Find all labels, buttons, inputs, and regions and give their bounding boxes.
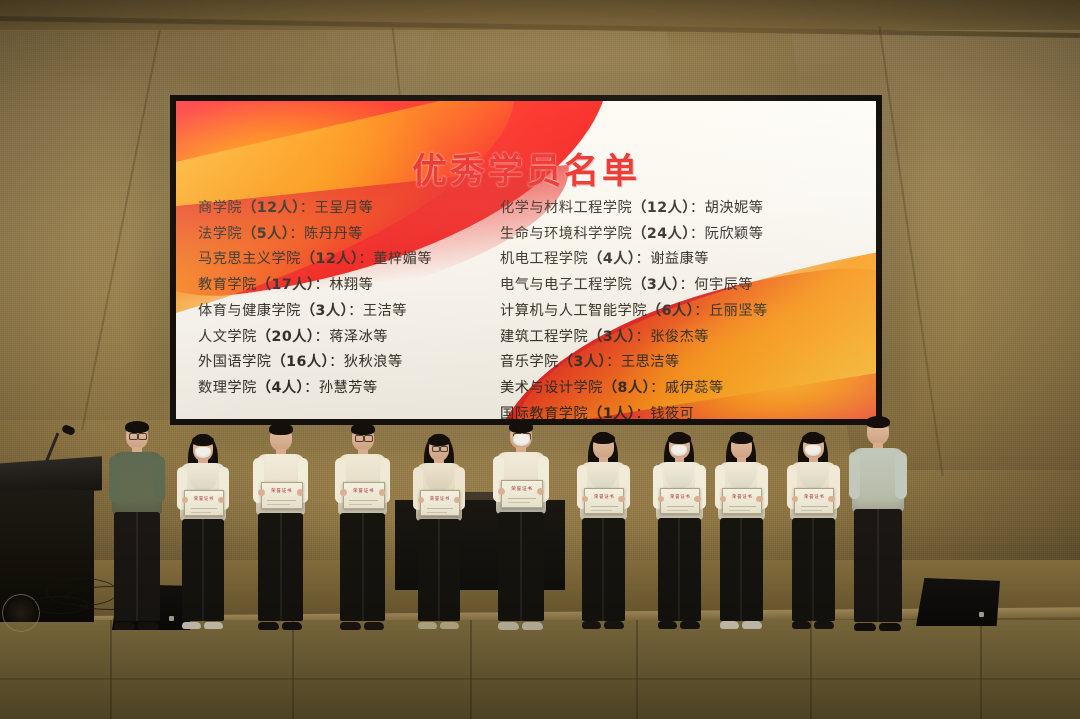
- hand: [537, 488, 544, 495]
- certificate-title: 荣誉证书: [421, 496, 458, 502]
- stage-panel-seam: [636, 620, 638, 719]
- stage-panel-seam-horizontal: [0, 678, 1080, 680]
- shoe-left: [258, 622, 279, 630]
- certificate-line: [729, 510, 750, 511]
- leg-separation: [362, 513, 364, 621]
- entry-separator: ：: [635, 251, 650, 267]
- shoe-right: [204, 622, 224, 629]
- legs-pants: [182, 519, 225, 620]
- hair: [668, 433, 691, 444]
- person-p2: 荣誉证书: [176, 434, 230, 629]
- entry-college: 体育与健康学院: [198, 303, 301, 319]
- certificate-line: [267, 500, 296, 501]
- leg-separation: [812, 518, 814, 620]
- certificate: 荣誉证书: [261, 482, 303, 510]
- projection-screen: 优秀学员名单 商学院（12人）：王呈月等法学院（5人）：陈丹丹等马克思主义学院（…: [176, 101, 876, 419]
- slide-entry: 美术与设计学院（8人）：戚伊蕊等: [500, 381, 854, 395]
- stage-monitor-speaker-right: [916, 578, 1000, 626]
- certificate-line: [591, 506, 618, 507]
- slide-entry: 法学院（5人）：陈丹丹等: [198, 227, 494, 241]
- entry-college: 教育学院: [198, 277, 257, 293]
- glasses-icon: [432, 446, 441, 453]
- shoe-left: [720, 621, 740, 629]
- shoe-left: [498, 622, 519, 630]
- shoe-right: [440, 622, 460, 629]
- certificate-line: [349, 504, 371, 505]
- certificate: 荣誉证书: [343, 482, 385, 510]
- legs-pants: [720, 518, 763, 620]
- entry-college: 电气与电子工程学院: [500, 277, 632, 293]
- entry-separator: ：: [329, 354, 344, 370]
- slide-entry: 化学与材料工程学院（12人）：胡泱妮等: [500, 201, 854, 215]
- slide-entry: 商学院（12人）：王呈月等: [198, 201, 494, 215]
- entry-separator: ：: [606, 354, 621, 370]
- speaker-led-icon: [169, 616, 174, 621]
- stage-panel-seam: [980, 620, 982, 719]
- stage-panel-seam: [810, 620, 812, 719]
- leg-separation: [136, 512, 138, 621]
- slide-entry: 音乐学院（3人）：王思洁等: [500, 355, 854, 369]
- stage-front-panel: [0, 620, 1080, 719]
- leg-separation: [740, 518, 742, 620]
- certificate-title: 荣誉证书: [502, 486, 542, 492]
- hair: [866, 416, 891, 428]
- entry-name: 王思洁等: [621, 354, 680, 370]
- slide-column-right: 化学与材料工程学院（12人）：胡泱妮等生命与环境科学学院（24人）：阮欣颖等机电…: [500, 201, 854, 419]
- stage-panel-seam: [292, 620, 294, 719]
- slide-entry: 计算机与人工智能学院（6人）：丘丽坚等: [500, 304, 854, 318]
- shoe-left: [582, 621, 602, 629]
- entry-name: 董梓媚等: [373, 251, 432, 267]
- person-p1: [108, 420, 166, 630]
- podium-logo-subtext: UNIVERSITY: [0, 542, 68, 547]
- hand: [694, 496, 701, 503]
- entry-separator: ：: [680, 277, 695, 293]
- entry-college: 生命与环境科学学院: [500, 226, 632, 242]
- entry-name: 狄秋浪等: [344, 354, 403, 370]
- hand: [498, 488, 505, 495]
- person-p3: 荣誉证书: [252, 422, 309, 630]
- entry-count: （16人）: [271, 354, 329, 370]
- hair: [428, 435, 450, 446]
- photo-scene: 优秀学员名单 商学院（12人）：王呈月等法学院（5人）：陈丹丹等马克思主义学院（…: [0, 0, 1080, 719]
- entry-college: 化学与材料工程学院: [500, 200, 632, 216]
- entry-count: （3人）: [588, 329, 635, 345]
- entry-name: 阮欣颖等: [705, 226, 764, 242]
- glasses-icon: [129, 433, 138, 440]
- hand: [618, 496, 625, 503]
- certificate-line: [508, 502, 530, 503]
- leg-separation: [602, 518, 604, 620]
- leg-separation: [520, 512, 522, 621]
- certificate-line: [427, 512, 448, 513]
- entry-count: （3人）: [301, 303, 348, 319]
- certificate: 荣誉证书: [501, 480, 543, 508]
- entry-separator: ：: [694, 303, 709, 319]
- legs-pants: [114, 512, 160, 621]
- certificate-line: [801, 506, 828, 507]
- entry-separator: ：: [690, 226, 705, 242]
- stage-panel-seam: [470, 620, 472, 719]
- certificate-line: [349, 500, 378, 501]
- entry-separator: ：: [289, 226, 304, 242]
- stage-panel-seam: [110, 620, 112, 719]
- glasses-icon: [440, 446, 449, 453]
- face-mask: [513, 434, 530, 446]
- arm-left: [109, 456, 120, 502]
- arm-right: [895, 452, 906, 499]
- entry-count: （8人）: [603, 380, 650, 396]
- entry-college: 人文学院: [198, 329, 257, 345]
- entry-count: （5人）: [242, 226, 289, 242]
- entry-name: 戚伊蕊等: [665, 380, 724, 396]
- entry-separator: ：: [314, 277, 329, 293]
- legs-pants: [582, 518, 625, 620]
- person-p5: 荣誉证书: [412, 434, 466, 629]
- face-mask: [195, 447, 211, 458]
- shoe-right: [138, 622, 159, 630]
- certificate-line: [667, 510, 688, 511]
- glasses-icon: [364, 435, 373, 442]
- entry-count: （12人）: [242, 200, 300, 216]
- hand: [828, 496, 835, 503]
- slide-entry: 教育学院（17人）：林翔等: [198, 278, 494, 292]
- entry-name: 孙慧芳等: [319, 380, 378, 396]
- entry-name: 丘丽坚等: [709, 303, 768, 319]
- legs-pants: [340, 513, 386, 621]
- certificate-line: [191, 508, 218, 509]
- entry-separator: ：: [650, 380, 665, 396]
- entry-separator: ：: [690, 200, 705, 216]
- slide-entry: 体育与健康学院（3人）：王洁等: [198, 304, 494, 318]
- entry-college: 机电工程学院: [500, 251, 588, 267]
- arm-left: [849, 452, 860, 499]
- entry-college: 音乐学院: [500, 354, 559, 370]
- certificate-title: 荣誉证书: [344, 488, 384, 494]
- legs-pants: [498, 512, 544, 621]
- entry-name: 谢益康等: [650, 251, 709, 267]
- entry-college: 商学院: [198, 200, 242, 216]
- person-p8: 荣誉证书: [652, 432, 707, 629]
- entry-separator: ：: [300, 200, 315, 216]
- leg-separation: [678, 518, 680, 620]
- entry-separator: ：: [348, 303, 363, 319]
- entry-separator: ：: [635, 406, 650, 419]
- hair: [192, 435, 214, 446]
- arm-right: [154, 456, 165, 502]
- glasses-icon: [355, 435, 364, 442]
- entry-name: 张俊杰等: [650, 329, 709, 345]
- entry-count: （1人）: [588, 406, 635, 419]
- shoe-right: [364, 622, 385, 630]
- shoe-left: [340, 622, 361, 630]
- glasses-icon: [138, 433, 147, 440]
- entry-count: （24人）: [632, 226, 690, 242]
- projection-screen-frame: 优秀学员名单 商学院（12人）：王呈月等法学院（5人）：陈丹丹等马克思主义学院（…: [170, 95, 882, 425]
- slide-entry: 马克思主义学院（12人）：董梓媚等: [198, 252, 494, 266]
- legs-pants: [792, 518, 835, 620]
- entry-count: （20人）: [257, 329, 315, 345]
- speaker-led-icon: [979, 612, 984, 617]
- entry-college: 国际教育学院: [500, 406, 588, 419]
- legs-pants: [658, 518, 701, 620]
- entry-name: 林翔等: [329, 277, 373, 293]
- slide-entry: 国际教育学院（1人）：钱筱可: [500, 407, 854, 419]
- entry-college: 计算机与人工智能学院: [500, 303, 647, 319]
- slide-entry: 数理学院（4人）：孙慧芳等: [198, 381, 494, 395]
- slide-title: 优秀学员名单: [176, 143, 876, 194]
- entry-college: 建筑工程学院: [500, 329, 588, 345]
- shoe-right: [742, 621, 762, 629]
- entry-count: （3人）: [632, 277, 679, 293]
- hair: [730, 433, 753, 444]
- certificate: 荣誉证书: [420, 490, 459, 516]
- shoe-left: [114, 622, 135, 630]
- hand: [756, 496, 763, 503]
- entry-count: （12人）: [632, 200, 690, 216]
- entry-name: 陈丹丹等: [304, 226, 363, 242]
- entry-name: 王洁等: [363, 303, 407, 319]
- entry-college: 马克思主义学院: [198, 251, 301, 267]
- certificate: 荣誉证书: [184, 490, 223, 516]
- leg-separation: [438, 519, 440, 620]
- entry-count: （4人）: [588, 251, 635, 267]
- certificate-line: [508, 498, 537, 499]
- entry-separator: ：: [635, 329, 650, 345]
- slide-entry: 人文学院（20人）：蒋泽冰等: [198, 330, 494, 344]
- shoe-left: [792, 621, 812, 629]
- entry-count: （12人）: [301, 251, 359, 267]
- slide-content: 商学院（12人）：王呈月等法学院（5人）：陈丹丹等马克思主义学院（12人）：董梓…: [176, 201, 876, 419]
- legs-pants: [418, 519, 461, 620]
- shoe-left: [418, 622, 438, 629]
- slide-entry: 机电工程学院（4人）：谢益康等: [500, 252, 854, 266]
- person-p9: 荣誉证书: [714, 432, 769, 629]
- entry-count: （4人）: [257, 380, 304, 396]
- shoe-left: [658, 621, 678, 629]
- person-p7: 荣誉证书: [576, 432, 631, 629]
- entry-separator: ：: [359, 251, 374, 267]
- entry-name: 钱筱可: [650, 406, 694, 419]
- hair: [351, 423, 375, 435]
- entry-name: 王呈月等: [315, 200, 374, 216]
- shoe-left: [182, 622, 202, 629]
- certificate-title: 荣誉证书: [262, 488, 302, 494]
- entry-separator: ：: [314, 329, 329, 345]
- entry-college: 美术与设计学院: [500, 380, 603, 396]
- slide-entry: 生命与环境科学学院（24人）：阮欣颖等: [500, 227, 854, 241]
- shoe-right: [879, 623, 901, 631]
- person-p6: 荣誉证书: [492, 420, 550, 630]
- entry-college: 数理学院: [198, 380, 257, 396]
- slide-entry: 建筑工程学院（3人）：张俊杰等: [500, 330, 854, 344]
- hair: [125, 421, 149, 433]
- certificate-line: [591, 510, 612, 511]
- entry-college: 法学院: [198, 226, 242, 242]
- hair: [509, 421, 533, 433]
- hair: [592, 433, 615, 444]
- entry-separator: ：: [304, 380, 319, 396]
- legs-pants: [258, 513, 304, 621]
- certificate-line: [267, 504, 289, 505]
- leg-separation: [202, 519, 204, 620]
- shoe-right: [282, 622, 303, 630]
- legs-pants: [854, 509, 901, 621]
- certificate-title: 荣誉证书: [185, 496, 222, 502]
- leg-separation: [280, 513, 282, 621]
- hair: [802, 433, 825, 444]
- person-p4: 荣誉证书: [334, 422, 391, 630]
- hair: [269, 423, 293, 435]
- shoe-right: [814, 621, 834, 629]
- slide-entry: 外国语学院（16人）：狄秋浪等: [198, 355, 494, 369]
- entry-count: （6人）: [647, 303, 694, 319]
- certificate-line: [729, 506, 756, 507]
- leg-separation: [877, 509, 879, 621]
- entry-count: （3人）: [559, 354, 606, 370]
- entry-count: （17人）: [257, 277, 315, 293]
- shoe-left: [854, 623, 876, 631]
- entry-name: 何宇辰等: [694, 277, 753, 293]
- person-p10: 荣誉证书: [786, 432, 841, 629]
- certificate-line: [801, 510, 822, 511]
- shoe-right: [522, 622, 543, 630]
- entry-name: 蒋泽冰等: [329, 329, 388, 345]
- person-p11: [848, 415, 908, 631]
- shoe-right: [680, 621, 700, 629]
- certificate-line: [427, 508, 454, 509]
- floor-cable: [30, 596, 88, 614]
- entry-college: 外国语学院: [198, 354, 271, 370]
- shoe-right: [604, 621, 624, 629]
- certificate-line: [191, 512, 212, 513]
- slide-entry: 电气与电子工程学院（3人）：何宇辰等: [500, 278, 854, 292]
- slide-column-left: 商学院（12人）：王呈月等法学院（5人）：陈丹丹等马克思主义学院（12人）：董梓…: [198, 201, 494, 419]
- certificate-line: [667, 506, 694, 507]
- entry-name: 胡泱妮等: [705, 200, 764, 216]
